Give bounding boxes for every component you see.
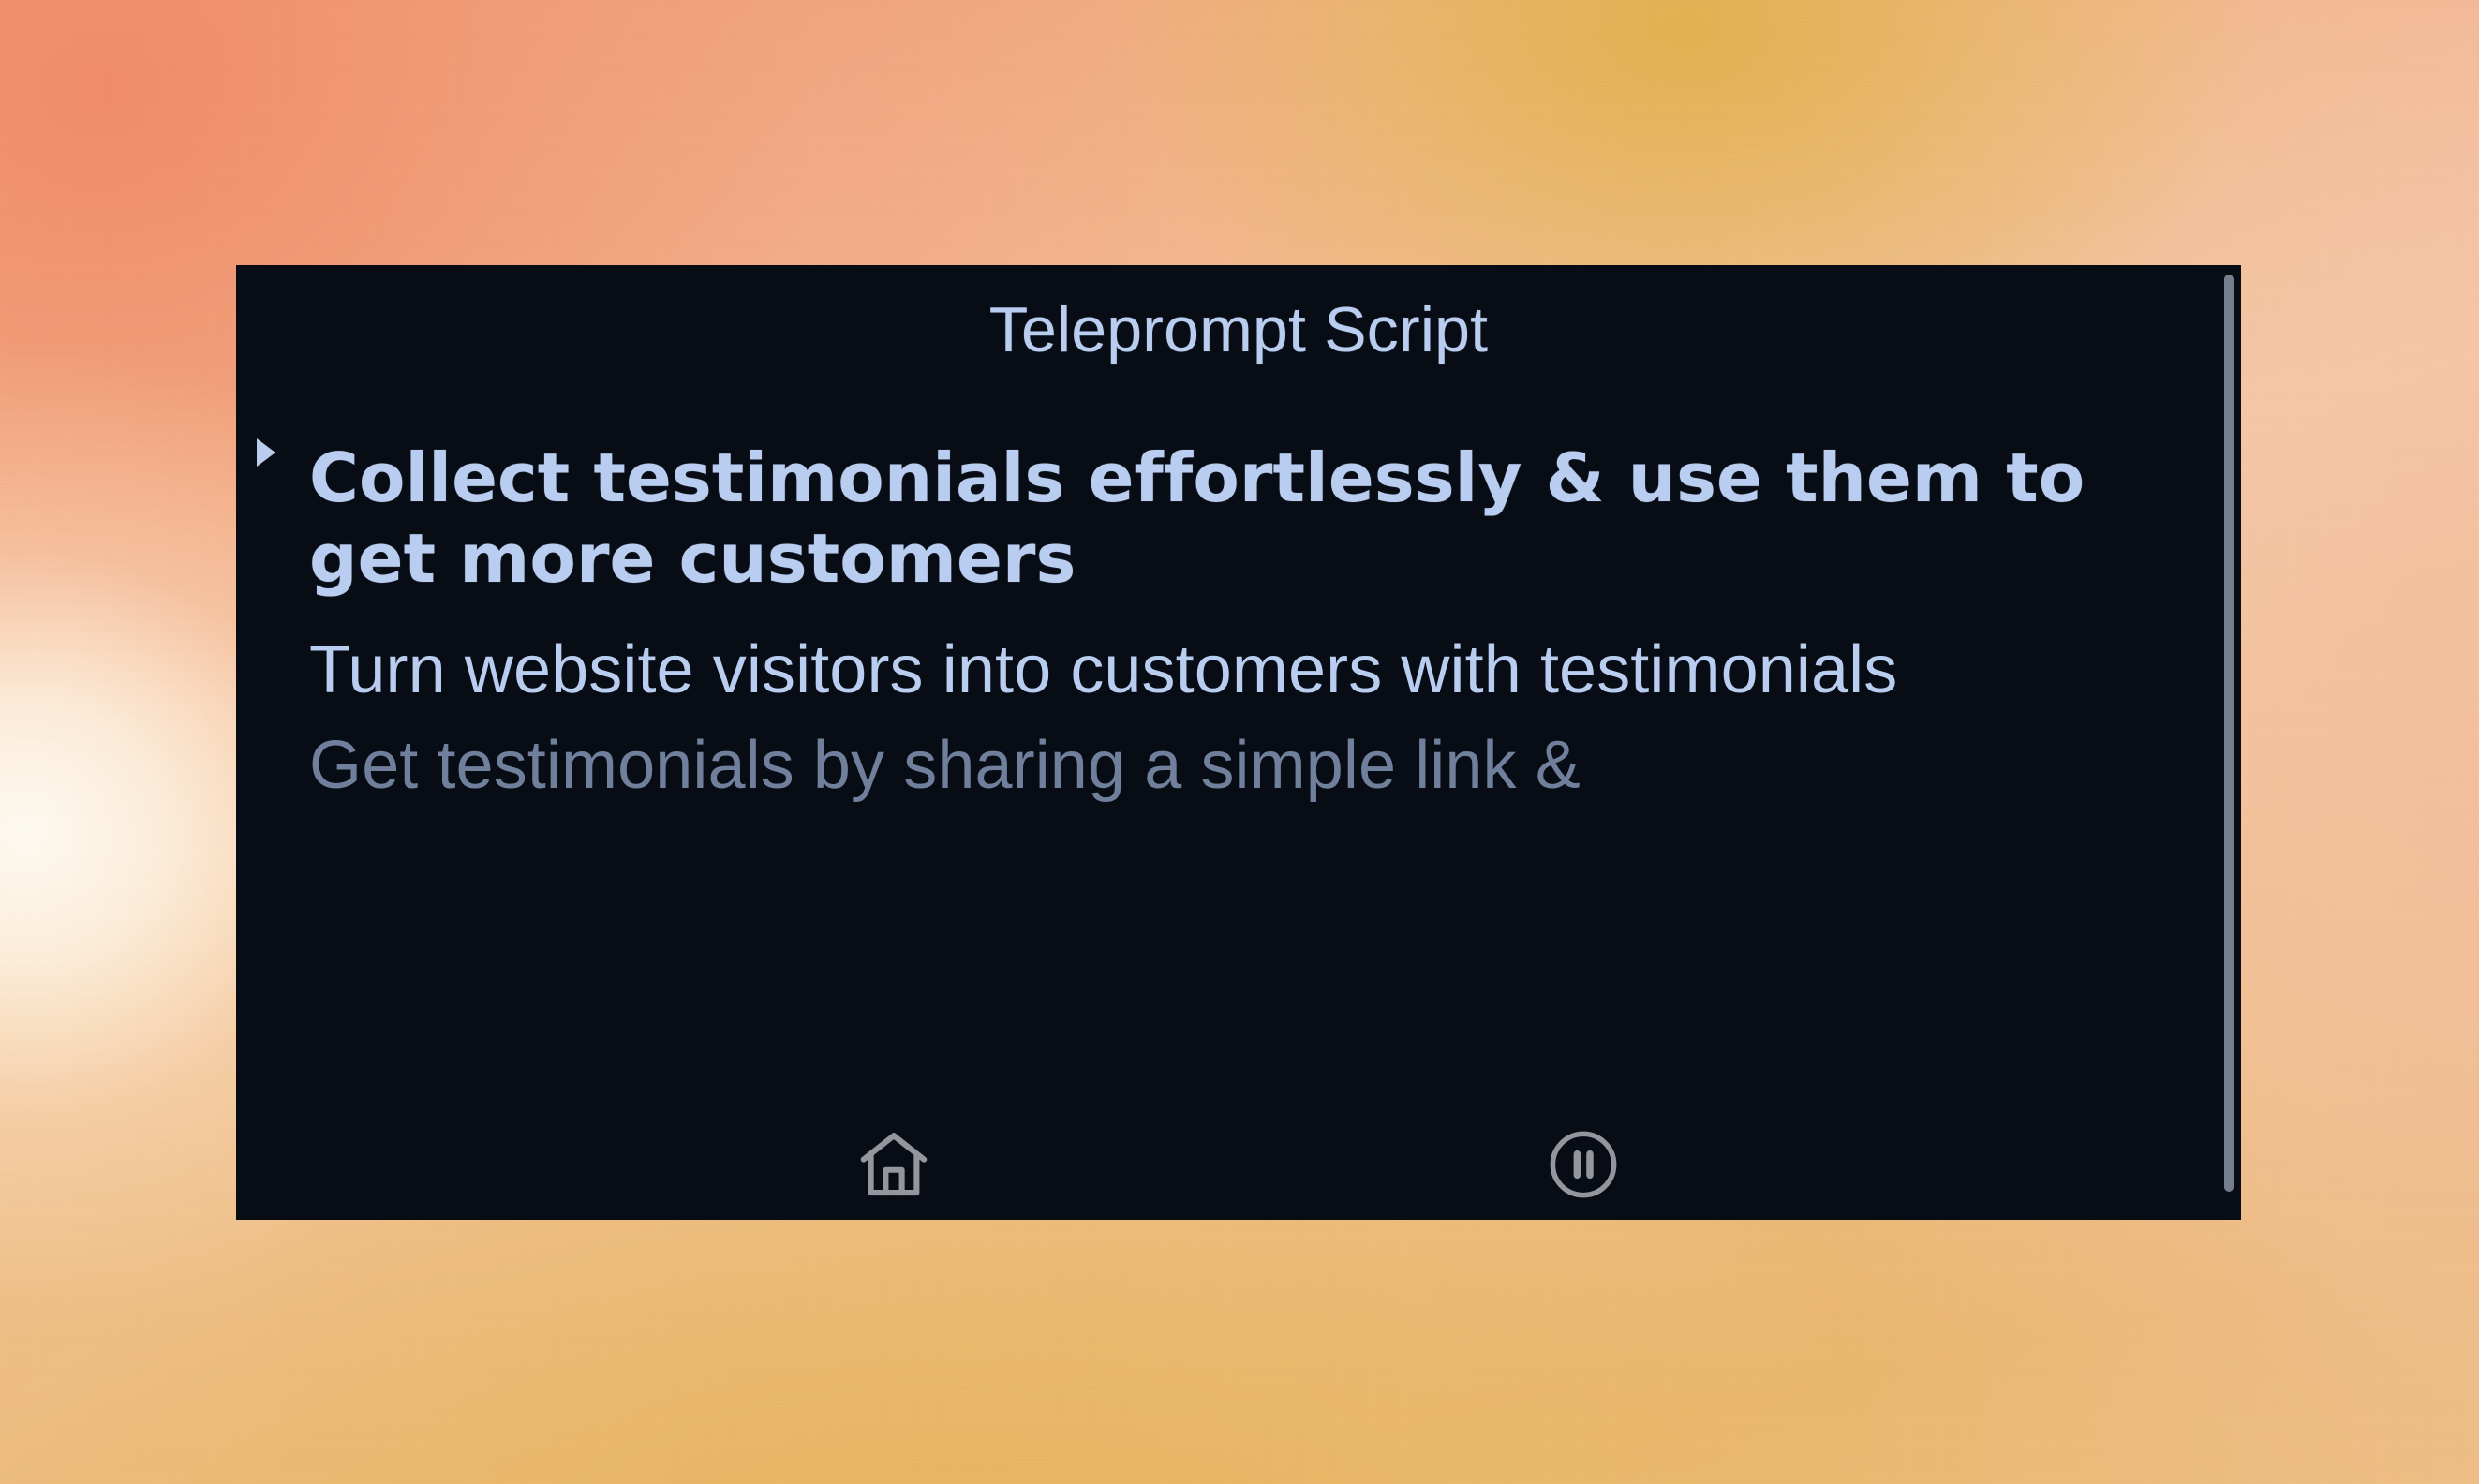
vertical-scrollbar[interactable] xyxy=(2222,275,2235,1210)
home-icon xyxy=(854,1124,934,1205)
home-button[interactable] xyxy=(849,1120,939,1209)
scrollbar-thumb[interactable] xyxy=(2224,275,2234,1192)
page-title: Teleprompt Script xyxy=(236,265,2241,365)
script-line-next[interactable]: Turn website visitors into customers wit… xyxy=(290,630,2185,710)
teleprompter-panel: Teleprompt Script Collect testimonials e… xyxy=(236,265,2241,1220)
script-line-upcoming[interactable]: Get testimonials by sharing a simple lin… xyxy=(290,725,2185,806)
pause-circle-icon xyxy=(1543,1124,1624,1205)
pause-button[interactable] xyxy=(1538,1120,1628,1209)
script-line-current[interactable]: Collect testimonials effortlessly & use … xyxy=(290,438,2185,600)
script-scroll-area[interactable]: Collect testimonials effortlessly & use … xyxy=(236,418,2241,1220)
play-caret-icon xyxy=(257,438,275,467)
